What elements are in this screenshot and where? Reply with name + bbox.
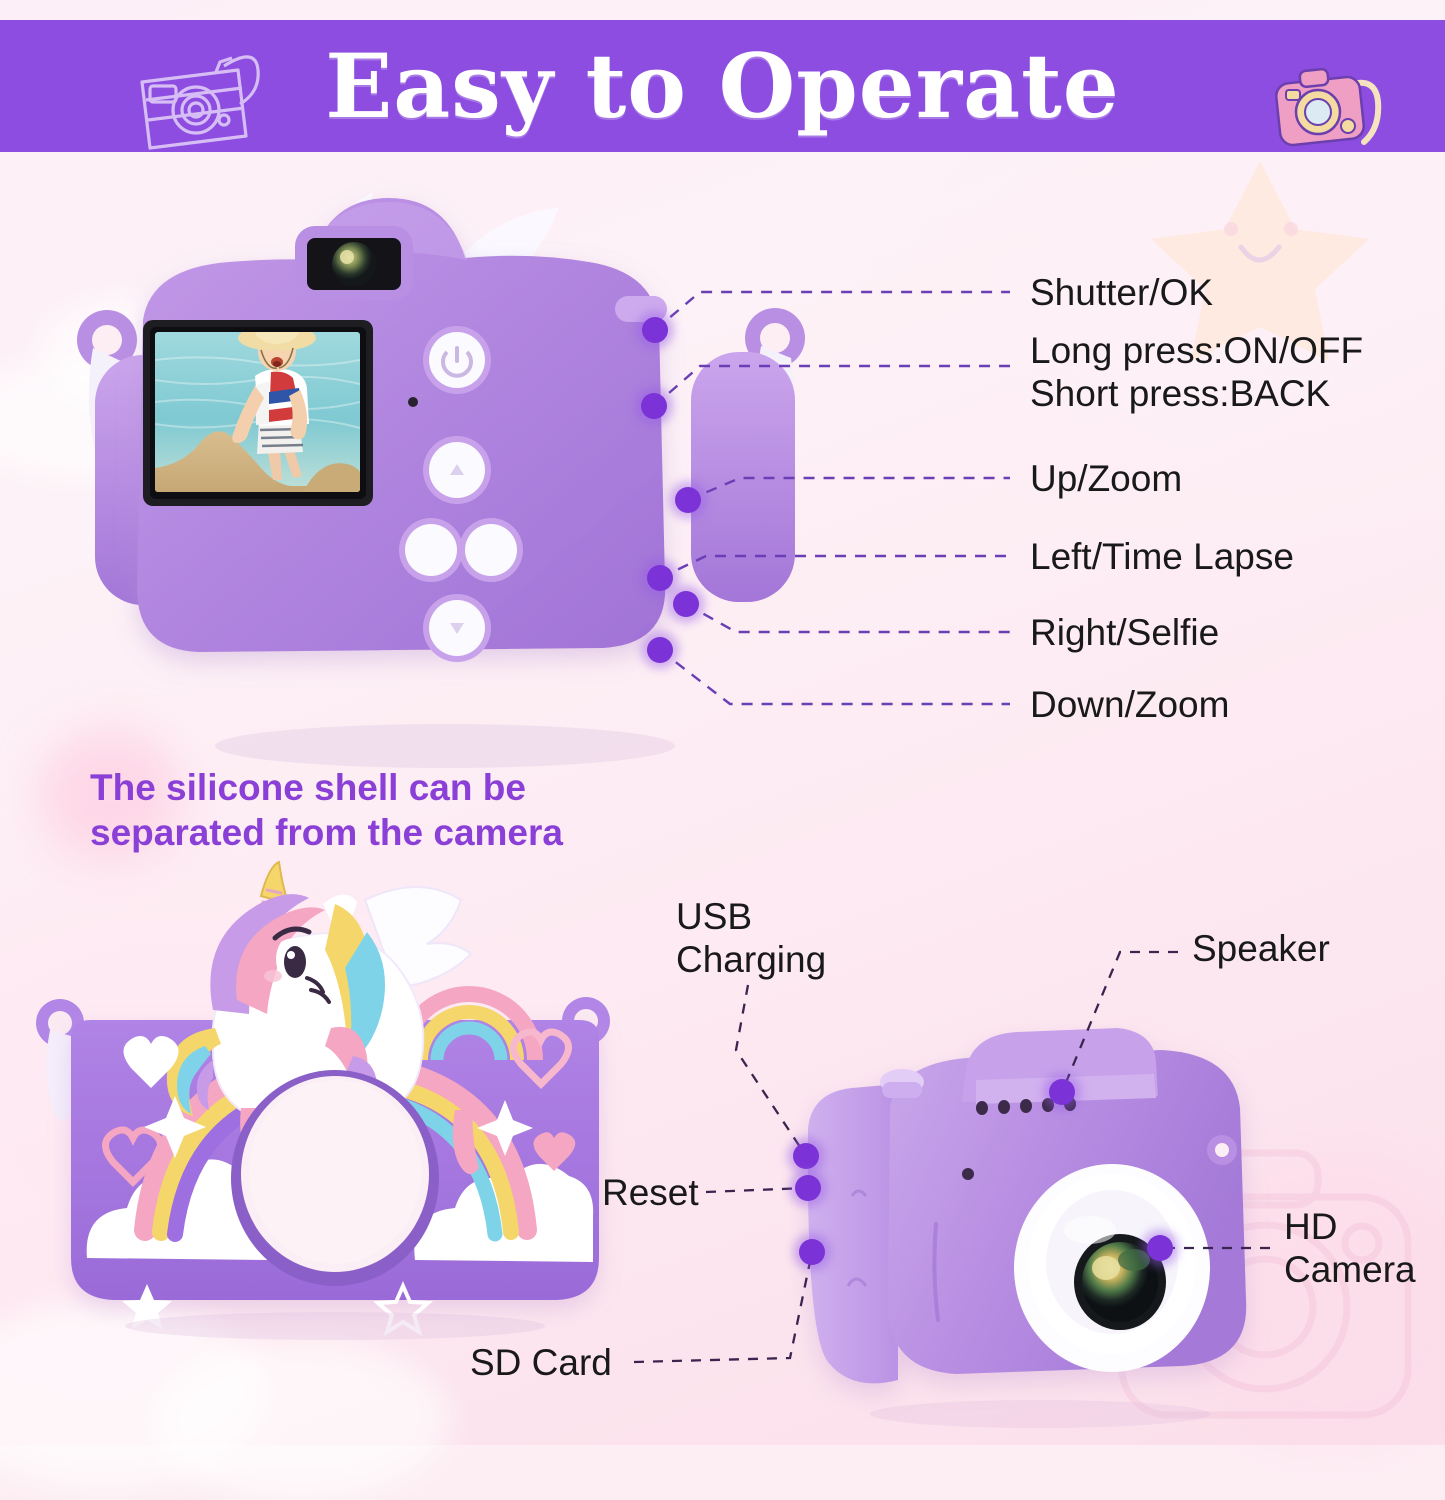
side-camera-illustration [790,1010,1310,1430]
callout-power-back: Long press:ON/OFF Short press:BACK [1030,330,1363,416]
power-button [423,326,491,394]
callout-speaker: Speaker [1192,928,1330,971]
callout-right-selfie: Right/Selfie [1030,612,1219,655]
callout-shutter-ok: Shutter/OK [1030,272,1213,315]
callout-reset: Reset [602,1172,699,1215]
anchor-dot-power [641,393,667,419]
left-button [399,518,463,582]
anchor-dot-up [675,487,701,513]
up-button [423,436,491,504]
hd-lens [1014,1164,1210,1372]
anchor-dot-sdcard [799,1239,825,1265]
silicone-shell-note: The silicone shell can be separated from… [90,765,563,855]
anchor-dot-down [647,637,673,663]
unicorn-shell-illustration [35,860,635,1340]
outline-camera-icon [128,42,268,154]
anchor-dot-hdcam [1147,1235,1173,1261]
down-button [423,594,491,662]
anchor-dot-right [673,591,699,617]
callout-hd-camera: HD Camera [1284,1206,1416,1292]
anchor-dot-reset [795,1175,821,1201]
anchor-dot-speaker [1049,1079,1075,1105]
callout-down-zoom: Down/Zoom [1030,684,1229,727]
header-banner: Easy to Operate [0,20,1445,152]
callout-up-zoom: Up/Zoom [1030,458,1182,501]
page-title: Easy to Operate [325,42,1120,130]
top-camera-illustration [55,180,825,780]
right-button [459,518,523,582]
pink-camera-icon [1272,62,1390,158]
callout-left-timelapse: Left/Time Lapse [1030,536,1294,579]
callout-usb-charging: USB Charging [676,896,826,982]
screen-photo [155,316,360,492]
anchor-dot-usb [793,1143,819,1169]
front-lens [332,242,376,286]
lens-cutout [231,1070,439,1286]
anchor-dot-left [647,565,673,591]
callout-sd-card: SD Card [470,1342,612,1385]
anchor-dot-shutter [642,317,668,343]
cloud-decor [150,1340,450,1500]
